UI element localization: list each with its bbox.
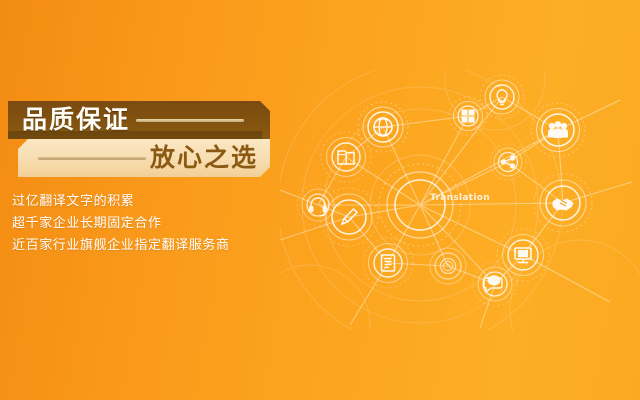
feature-line: 超千家企业长期固定合作 bbox=[12, 213, 230, 235]
network-node-monitor bbox=[497, 229, 549, 281]
banner-image: 品质保证 放心之选 过亿翻译文字的积累 超千家企业长期固定合作 近百家行业旗舰企… bbox=[0, 0, 640, 400]
banner-rule-top bbox=[136, 119, 244, 122]
network-node-globe bbox=[358, 102, 408, 152]
feature-list: 过亿翻译文字的积累 超千家企业长期固定合作 近百家行业旗舰企业指定翻译服务商 bbox=[12, 191, 230, 257]
feature-line: 近百家行业旗舰企业指定翻译服务商 bbox=[12, 235, 230, 257]
network-node-people bbox=[531, 103, 585, 157]
banner-title-top: 品质保证 bbox=[22, 103, 130, 137]
headline-banner: 品质保证 放心之选 bbox=[8, 101, 270, 177]
translation-network-graphic: Translation bbox=[280, 70, 640, 330]
banner-title-bottom: 放心之选 bbox=[150, 141, 258, 175]
banner-rule-bottom bbox=[38, 157, 146, 160]
feature-line: 过亿翻译文字的积累 bbox=[12, 191, 230, 213]
